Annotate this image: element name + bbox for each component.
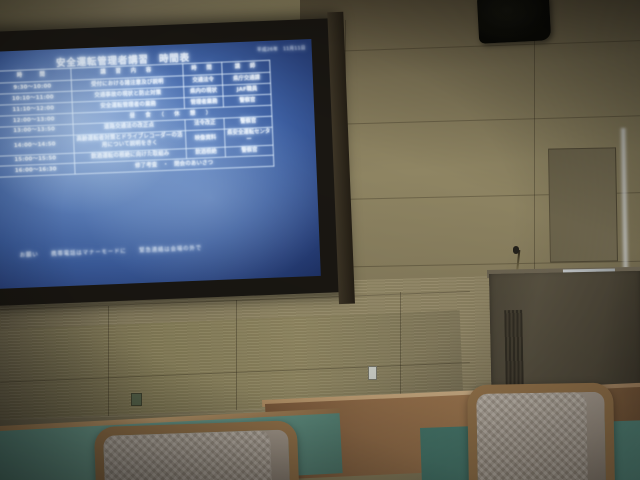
lectern-side-grill [504, 310, 524, 388]
wall-seam [236, 300, 237, 410]
slide-footer-note: お願い 携帯電話はマナーモードに 緊急連絡は会場の外で [20, 244, 203, 259]
chair [94, 421, 281, 480]
cell-duration: 映像資料 [185, 129, 225, 148]
wall-niche [548, 147, 618, 262]
projection-screen-frame: 安全運転管理者講習 時間表 平成26年 11月11日 時 間 講 習 内 容 時… [0, 18, 345, 306]
cell-time: 16:00～16:30 [0, 164, 75, 178]
wall-seam [534, 0, 535, 300]
wall-outlet-plate [131, 393, 142, 406]
cell-lecturer: 県安全運転センター [225, 127, 273, 147]
chair-fabric [476, 392, 588, 480]
wall-switch-plate [368, 366, 377, 380]
meeting-room-photo: 安全運転管理者講習 時間表 平成26年 11月11日 時 間 講 習 内 容 時… [0, 0, 640, 480]
microphone-icon [513, 246, 519, 254]
chair-fabric [103, 430, 272, 480]
wall-seam [108, 306, 109, 416]
wall-seam [400, 292, 401, 402]
wall-speaker [477, 0, 551, 44]
chair [467, 383, 597, 480]
projection-screen: 安全運転管理者講習 時間表 平成26年 11月11日 時 間 講 習 内 容 時… [0, 39, 321, 289]
projected-slide: 安全運転管理者講習 時間表 平成26年 11月11日 時 間 講 習 内 容 時… [0, 39, 321, 289]
slide-date: 平成26年 11月11日 [257, 45, 306, 53]
schedule-table: 時 間 講 習 内 容 時 間 講 師 9:30～10:00受付における諸注意及… [0, 60, 274, 178]
